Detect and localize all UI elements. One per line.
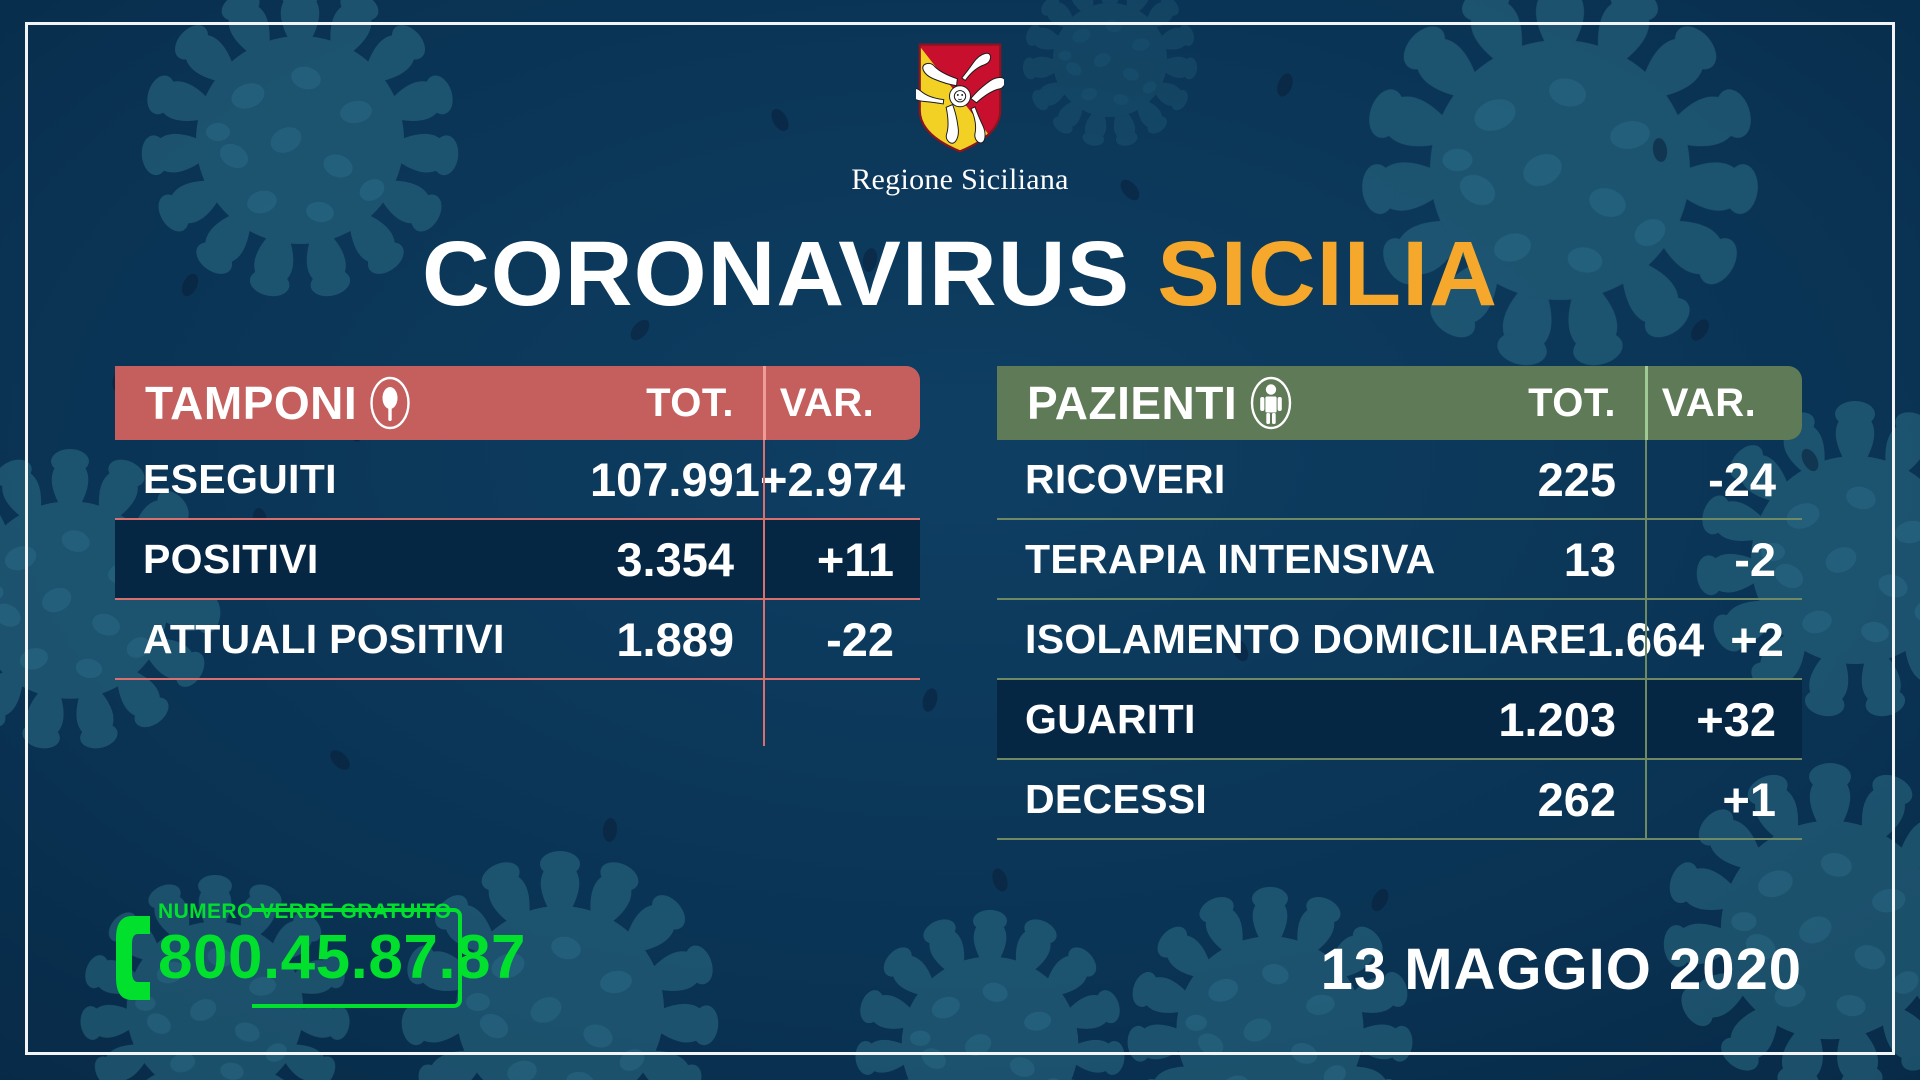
pazienti-column-divider: [1645, 440, 1647, 838]
title-sicilia: SICILIA: [1157, 223, 1498, 325]
row-total: 1.889: [590, 612, 760, 667]
title-coronavirus: CORONAVIRUS: [422, 223, 1130, 325]
row-variation: -2: [1642, 532, 1802, 587]
tamponi-table: TAMPONI TOT. VAR. ESEGUITI 107.991 +2.97…: [115, 366, 920, 680]
table-row: GUARITI 1.203 +32: [997, 680, 1802, 758]
hotline-badge[interactable]: NUMERO VERDE GRATUITO 800.45.87.87: [112, 898, 462, 1016]
row-variation: -22: [760, 612, 920, 667]
row-total: 1.664: [1587, 612, 1731, 667]
hotline-number: 800.45.87.87: [158, 922, 526, 993]
region-name: Regione Siciliana: [851, 163, 1069, 197]
row-label: RICOVERI: [997, 456, 1472, 503]
tamponi-title: TAMPONI: [145, 376, 357, 430]
row-variation: +1: [1642, 772, 1802, 827]
table-row: TERAPIA INTENSIVA 13 -2: [997, 520, 1802, 598]
hotline-label: NUMERO VERDE GRATUITO: [158, 900, 451, 924]
tamponi-col-total: TOT.: [590, 381, 760, 426]
sicilian-trinacria-crest-icon: [916, 42, 1004, 154]
row-total: 13: [1472, 532, 1642, 587]
tamponi-col-var: VAR.: [760, 381, 920, 426]
pazienti-col-total: TOT.: [1472, 381, 1642, 426]
person-icon: [1249, 376, 1293, 430]
table-row: RICOVERI 225 -24: [997, 440, 1802, 518]
tamponi-header-divider: [763, 366, 766, 440]
swab-icon: [369, 376, 411, 430]
phone-handset-icon: [112, 912, 156, 1004]
row-label: DECESSI: [997, 776, 1472, 823]
region-logo-block: Regione Siciliana: [0, 42, 1920, 197]
row-variation: -24: [1642, 452, 1802, 507]
pazienti-table: PAZIENTI TOT. VAR. RICOVERI 225 -24: [997, 366, 1802, 840]
table-row: ATTUALI POSITIVI 1.889 -22: [115, 600, 920, 678]
row-label: ESEGUITI: [115, 456, 590, 503]
row-total: 225: [1472, 452, 1642, 507]
report-date: 13 MAGGIO 2020: [1321, 936, 1802, 1003]
pazienti-title: PAZIENTI: [1027, 376, 1237, 430]
row-label: GUARITI: [997, 696, 1472, 743]
tamponi-table-header: TAMPONI TOT. VAR.: [115, 366, 920, 440]
row-total: 3.354: [590, 532, 760, 587]
pazienti-col-var: VAR.: [1642, 381, 1802, 426]
table-row: ESEGUITI 107.991 +2.974: [115, 440, 920, 518]
row-divider: [997, 838, 1802, 840]
row-total: 1.203: [1472, 692, 1642, 747]
table-row: ISOLAMENTO DOMICILIARE 1.664 +2: [997, 600, 1802, 678]
row-label: POSITIVI: [115, 536, 590, 583]
row-label: ISOLAMENTO DOMICILIARE: [997, 616, 1587, 663]
row-divider: [115, 678, 920, 680]
pazienti-title-cell: PAZIENTI: [997, 376, 1472, 430]
table-row: DECESSI 262 +1: [997, 760, 1802, 838]
row-total: 262: [1472, 772, 1642, 827]
row-variation: +11: [760, 532, 920, 587]
row-total: 107.991: [590, 452, 760, 507]
row-variation: +2: [1730, 612, 1810, 667]
row-label: ATTUALI POSITIVI: [115, 616, 590, 663]
tamponi-title-cell: TAMPONI: [115, 376, 590, 430]
pazienti-header-divider: [1645, 366, 1648, 440]
tamponi-column-divider: [763, 440, 765, 746]
row-variation: +32: [1642, 692, 1802, 747]
pazienti-table-header: PAZIENTI TOT. VAR.: [997, 366, 1802, 440]
row-label: TERAPIA INTENSIVA: [997, 536, 1472, 583]
table-row: POSITIVI 3.354 +11: [115, 520, 920, 598]
row-variation: +2.974: [760, 452, 920, 507]
page-title: CORONAVIRUS SICILIA: [0, 228, 1920, 320]
